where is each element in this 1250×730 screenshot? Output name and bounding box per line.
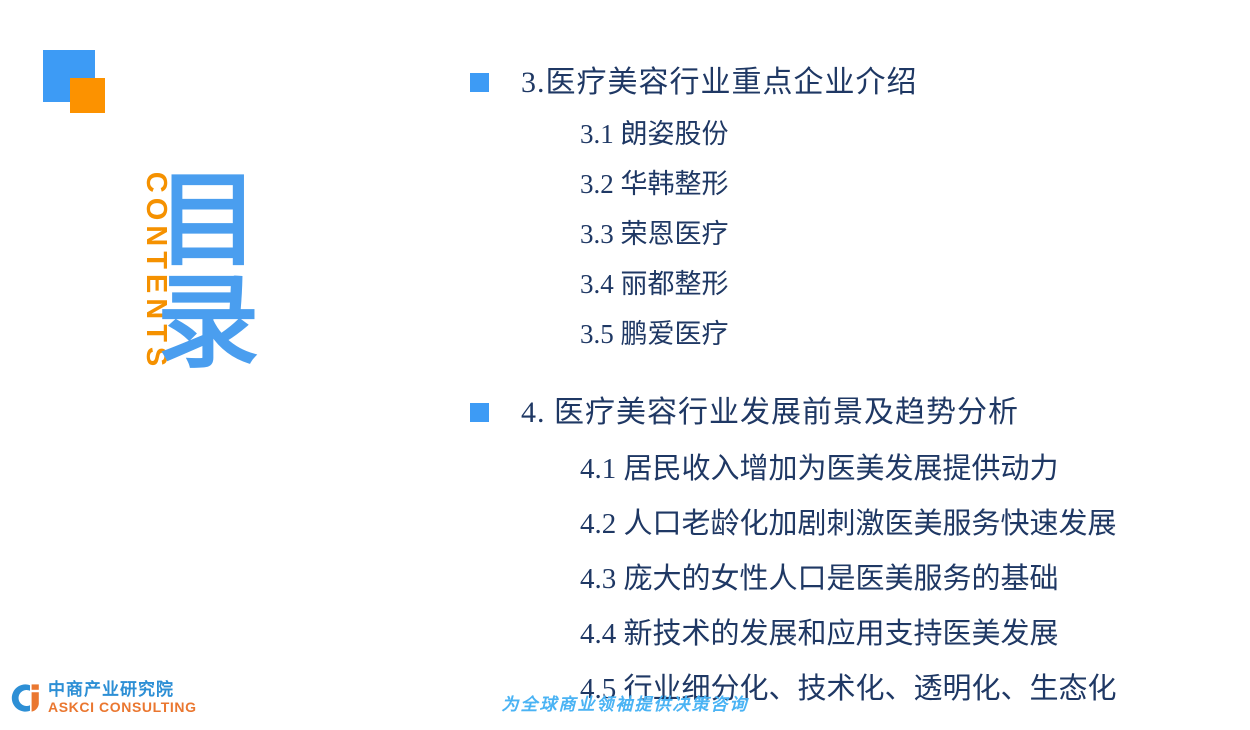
contents-title-char-1: 目	[157, 170, 269, 272]
slide-footer: 中商产业研究院 ASKCI CONSULTING 为全球商业领袖提供决策咨询	[0, 674, 1250, 730]
contents-title-block: CONTENTS 目 录	[95, 170, 295, 385]
toc-item-3-3[interactable]: 3.3 荣恩医疗	[580, 214, 1210, 254]
toc-item-3-5[interactable]: 3.5 鹏爱医疗	[580, 314, 1210, 354]
toc-item-3-4[interactable]: 3.4 丽都整形	[580, 264, 1210, 304]
contents-title-cjk: 目 录	[157, 170, 269, 374]
toc-item-4-1[interactable]: 4.1 居民收入增加为医美发展提供动力	[580, 449, 1210, 489]
section-spacer	[470, 364, 1210, 392]
slide-root: CONTENTS 目 录 3.医疗美容行业重点企业介绍 3.1 朗姿股份 3.2…	[0, 0, 1250, 730]
toc-section-4[interactable]: 4. 医疗美容行业发展前景及趋势分析	[470, 392, 1210, 434]
toc-section-3[interactable]: 3.医疗美容行业重点企业介绍	[470, 62, 1210, 104]
decor-orange-square	[70, 78, 105, 113]
contents-title-char-2: 录	[157, 272, 269, 374]
table-of-contents: 3.医疗美容行业重点企业介绍 3.1 朗姿股份 3.2 华韩整形 3.3 荣恩医…	[470, 62, 1210, 724]
square-bullet-icon	[470, 73, 489, 92]
footer-tagline: 为全球商业领袖提供决策咨询	[0, 690, 1250, 715]
toc-item-3-1[interactable]: 3.1 朗姿股份	[580, 114, 1210, 154]
square-bullet-icon	[470, 403, 489, 422]
toc-item-4-4[interactable]: 4.4 新技术的发展和应用支持医美发展	[580, 614, 1210, 654]
toc-item-4-2[interactable]: 4.2 人口老龄化加剧刺激医美服务快速发展	[580, 504, 1210, 544]
toc-section-3-label: 3.医疗美容行业重点企业介绍	[521, 62, 918, 104]
toc-item-3-2[interactable]: 3.2 华韩整形	[580, 164, 1210, 204]
toc-item-4-3[interactable]: 4.3 庞大的女性人口是医美服务的基础	[580, 559, 1210, 599]
toc-section-4-label: 4. 医疗美容行业发展前景及趋势分析	[521, 392, 1019, 434]
